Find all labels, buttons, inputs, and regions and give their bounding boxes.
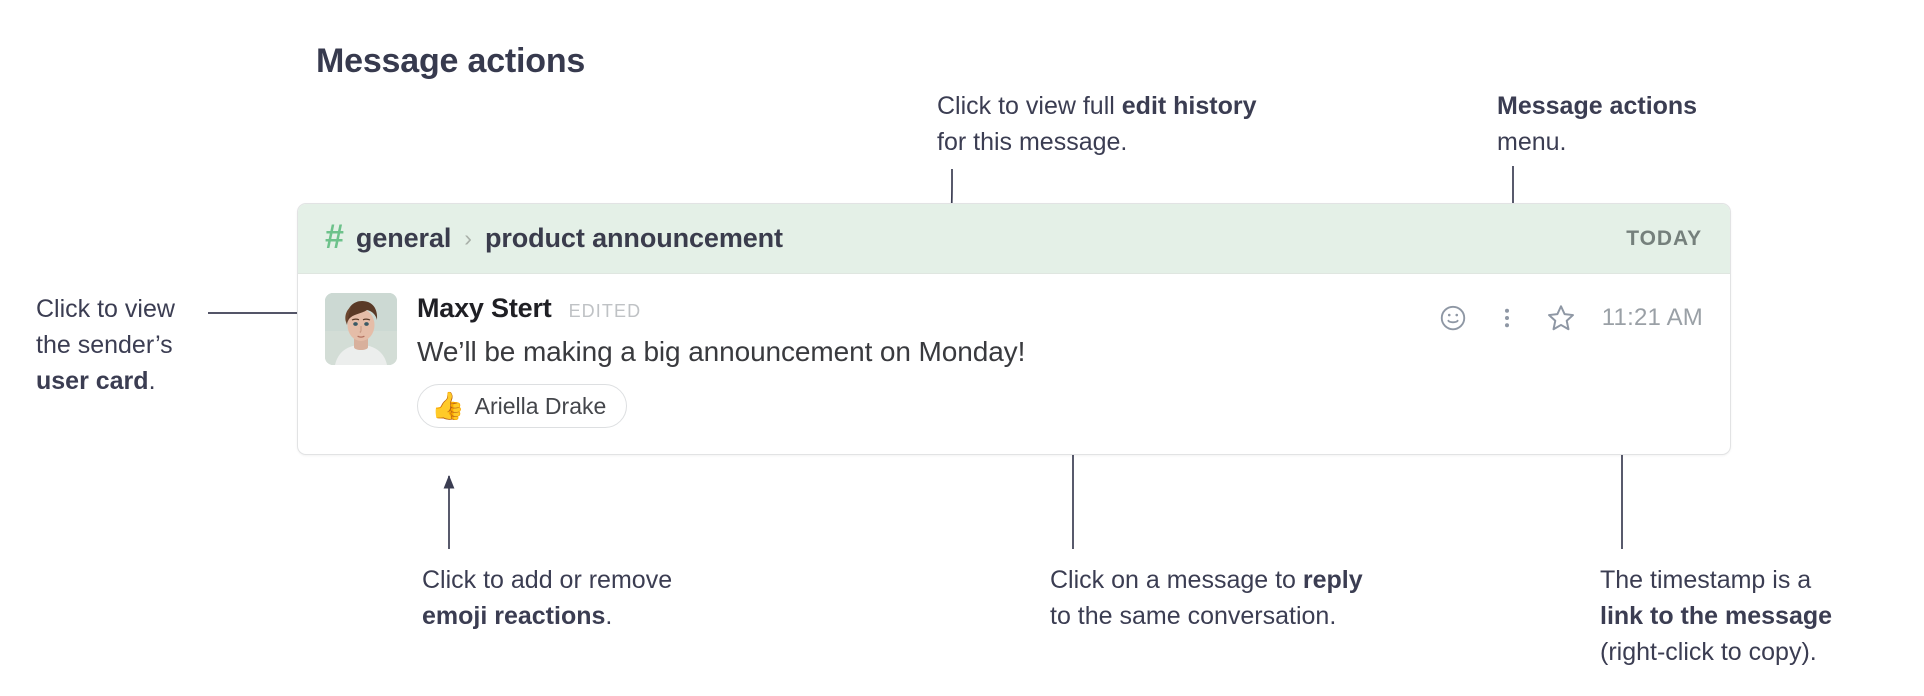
reaction-label: Ariella Drake — [475, 393, 607, 420]
annotation-emphasis: emoji reactions — [422, 602, 605, 630]
annotation-user-card: Click to view the sender’s user card. — [36, 291, 175, 399]
annotation-timestamp-line3: (right-click to copy). — [1600, 634, 1832, 670]
annotation-timestamp-line2: link to the message — [1600, 598, 1832, 634]
page-title: Message actions — [316, 42, 585, 81]
annotation-actions-menu-line2: menu. — [1497, 124, 1697, 160]
avatar[interactable] — [325, 293, 397, 365]
message-timestamp-link[interactable]: 11:21 AM — [1602, 304, 1703, 332]
annotation-timestamp-line1: The timestamp is a — [1600, 562, 1832, 598]
annotation-reply-line1: Click on a message to reply — [1050, 562, 1363, 598]
annotation-emoji-line1: Click to add or remove — [422, 562, 672, 598]
message-controls: 11:21 AM — [1436, 298, 1703, 338]
annotation-user-card-line3: user card. — [36, 363, 175, 399]
sender-name[interactable]: Maxy Stert — [417, 293, 552, 324]
annotation-reply-line2: to the same conversation. — [1050, 598, 1363, 634]
stream-name-link[interactable]: general — [356, 223, 451, 254]
edited-badge[interactable]: EDITED — [569, 301, 642, 322]
annotation-text: . — [149, 367, 156, 395]
thumbs-up-icon: 👍 — [431, 393, 465, 420]
annotation-text: Click to view full — [937, 92, 1122, 120]
message-body-text[interactable]: We’ll be making a big announcement on Mo… — [417, 334, 1703, 370]
message-card: # general › product announcement TODAY — [297, 203, 1731, 455]
annotation-edit-history-line2: for this message. — [937, 124, 1257, 160]
star-icon[interactable] — [1544, 301, 1578, 335]
annotation-edit-history-line1: Click to view full edit history — [937, 88, 1257, 124]
annotation-emphasis: user card — [36, 367, 149, 395]
breadcrumb-separator-icon: › — [464, 225, 472, 252]
annotation-actions-menu: Message actions menu. — [1497, 88, 1697, 160]
reaction-chip[interactable]: 👍 Ariella Drake — [417, 384, 627, 428]
annotation-reply: Click on a message to reply to the same … — [1050, 562, 1363, 634]
annotation-user-card-line1: Click to view — [36, 291, 175, 327]
message-actions-menu-icon[interactable] — [1490, 301, 1524, 335]
annotation-emphasis: reply — [1303, 566, 1363, 594]
topic-name-link[interactable]: product announcement — [485, 223, 783, 254]
annotation-text: Click on a message to — [1050, 566, 1303, 594]
annotation-emphasis: link to the message — [1600, 602, 1832, 630]
emoji-reaction-icon[interactable] — [1436, 301, 1470, 335]
annotation-timestamp-link: The timestamp is a link to the message (… — [1600, 562, 1832, 670]
hash-icon: # — [325, 220, 344, 254]
annotation-edit-history: Click to view full edit history for this… — [937, 88, 1257, 160]
annotation-emoji-reactions: Click to add or remove emoji reactions. — [422, 562, 672, 634]
annotation-user-card-line2: the sender’s — [36, 327, 175, 363]
annotation-text: . — [605, 602, 612, 630]
annotation-emphasis: edit history — [1122, 92, 1257, 120]
annotation-emoji-line2: emoji reactions. — [422, 598, 672, 634]
annotation-emphasis: Message actions — [1497, 92, 1697, 120]
annotation-actions-menu-line1: Message actions — [1497, 88, 1697, 124]
message-row[interactable]: Maxy Stert EDITED We’ll be making a big … — [298, 274, 1730, 428]
stream-topic-header: # general › product announcement TODAY — [298, 204, 1730, 274]
date-label: TODAY — [1626, 227, 1702, 251]
reaction-row: 👍 Ariella Drake — [417, 384, 1703, 428]
avatar-image — [325, 293, 397, 365]
